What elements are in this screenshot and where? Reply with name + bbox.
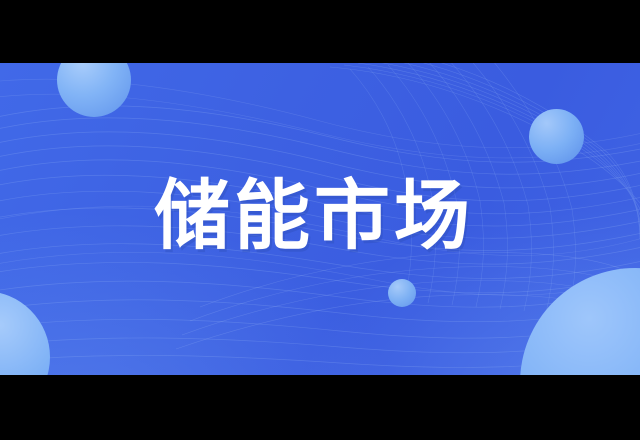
- title-slide: 储能市场: [0, 63, 640, 375]
- headline-container: 储能市场: [0, 63, 640, 375]
- video-frame: 储能市场: [0, 0, 640, 440]
- slide-title: 储能市场: [154, 178, 474, 254]
- letterbox-bar-bottom: [0, 375, 640, 440]
- letterbox-bar-top: [0, 0, 640, 63]
